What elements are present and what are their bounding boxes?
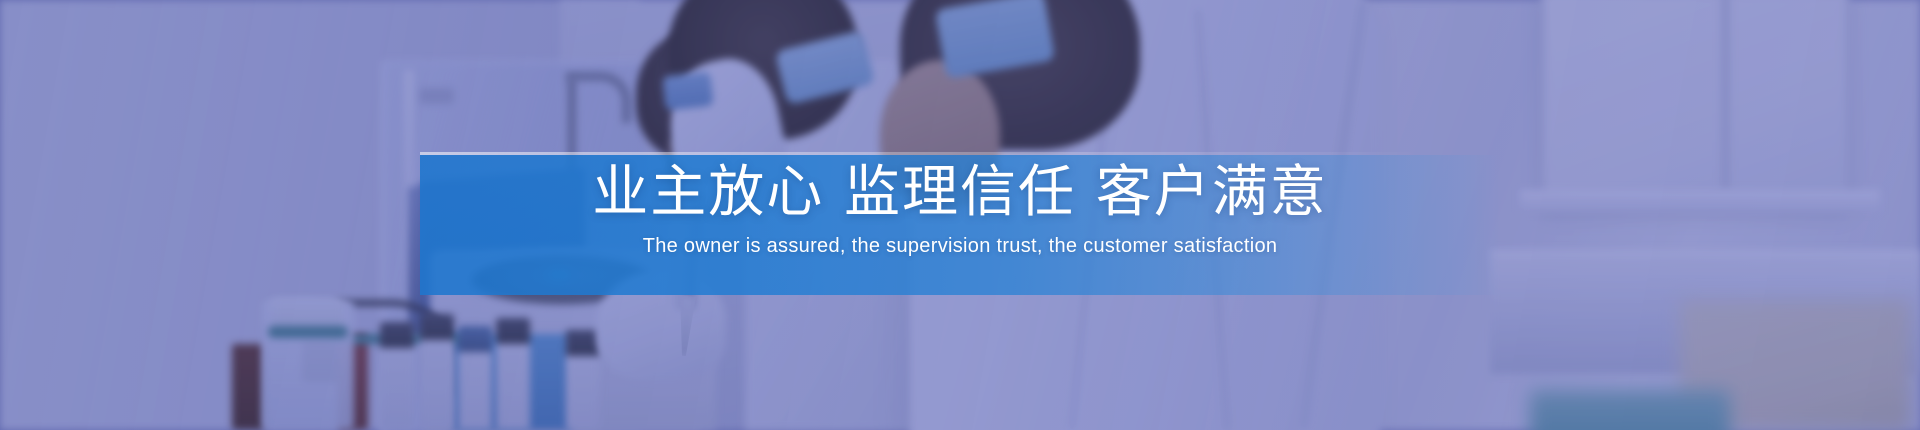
headline-band (420, 155, 1500, 295)
hero-banner: 业主放心 监理信任 客户满意 The owner is assured, the… (0, 0, 1920, 430)
